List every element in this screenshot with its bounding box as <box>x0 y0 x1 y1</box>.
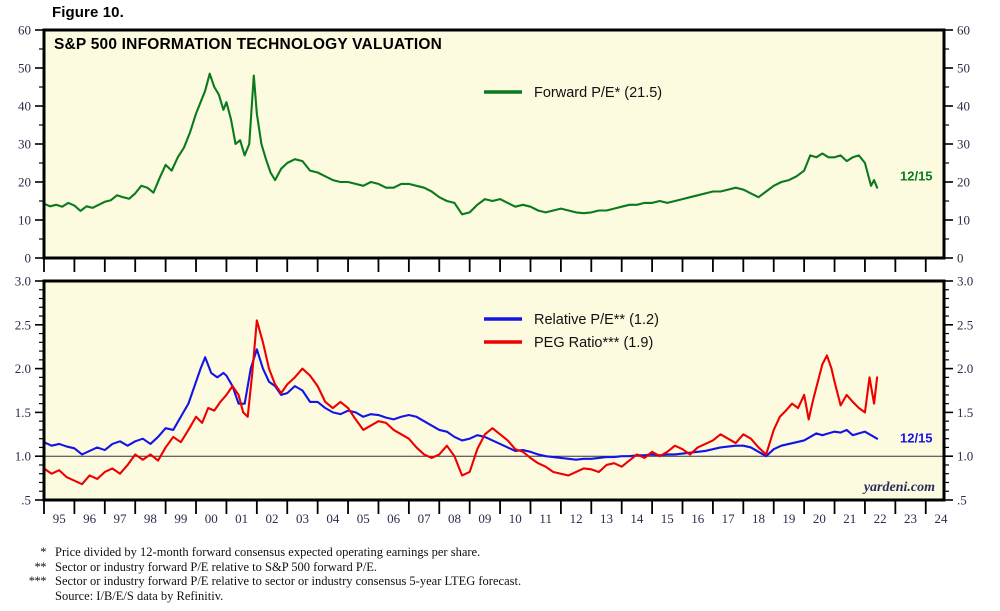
y-axis-label-left: 40 <box>18 99 31 114</box>
y-axis-label-right: 2.0 <box>957 361 973 376</box>
y-axis-label-right: 60 <box>957 23 970 38</box>
panel-background-2 <box>44 281 944 500</box>
x-axis-label: 22 <box>874 511 887 526</box>
y-axis-label-right: 30 <box>957 137 970 152</box>
footnote-text: Source: I/B/E/S data by Refinitiv. <box>55 589 1000 604</box>
y-axis-label-left: 50 <box>18 61 31 76</box>
x-axis-label: 14 <box>630 511 644 526</box>
legend-label-relative-pe: Relative P/E** (1.2) <box>534 312 659 328</box>
x-axis-label: 13 <box>600 511 613 526</box>
x-axis-label: 08 <box>448 511 461 526</box>
footnote-text: Sector or industry forward P/E relative … <box>55 560 1000 575</box>
x-axis-label: 96 <box>83 511 97 526</box>
x-axis-label: 04 <box>326 511 340 526</box>
x-axis-label: 98 <box>144 511 157 526</box>
x-axis-label: 09 <box>478 511 491 526</box>
y-axis-label-right: .5 <box>957 493 967 508</box>
x-axis-label: 03 <box>296 511 309 526</box>
y-axis-label-left: 10 <box>18 213 31 228</box>
footnotes-block: *Price divided by 12-month forward conse… <box>0 545 1000 603</box>
footnote-marker: *** <box>0 574 55 589</box>
x-axis-label: 17 <box>722 511 736 526</box>
y-axis-label-right: 1.0 <box>957 449 973 464</box>
x-axis-label: 19 <box>782 511 795 526</box>
x-axis-label: 12 <box>570 511 583 526</box>
y-axis-label-right: 2.5 <box>957 317 973 332</box>
y-axis-label-right: 40 <box>957 99 970 114</box>
y-axis-label-right: 50 <box>957 61 970 76</box>
y-axis-label-left: 2.5 <box>15 317 31 332</box>
x-axis-label: 18 <box>752 511 765 526</box>
y-axis-label-left: 0 <box>25 251 32 266</box>
footnote-row: *Price divided by 12-month forward conse… <box>0 545 1000 560</box>
y-axis-label-left: 2.0 <box>15 361 31 376</box>
watermark-yardeni: yardeni.com <box>862 480 935 495</box>
x-axis-label: 24 <box>934 511 948 526</box>
y-axis-label-left: 3.0 <box>15 274 31 289</box>
y-axis-label-right: 10 <box>957 213 970 228</box>
y-axis-label-right: 0 <box>957 251 964 266</box>
x-axis-label: 02 <box>266 511 279 526</box>
legend-label-forward-pe: Forward P/E* (21.5) <box>534 85 662 101</box>
y-axis-label-left: 20 <box>18 175 31 190</box>
legend-label-peg-ratio: PEG Ratio*** (1.9) <box>534 335 653 351</box>
x-axis-label: 97 <box>114 511 128 526</box>
footnote-text: Sector or industry forward P/E relative … <box>55 574 1000 589</box>
x-axis-label: 00 <box>205 511 218 526</box>
x-axis-label: 20 <box>813 511 826 526</box>
footnote-marker: * <box>0 545 55 560</box>
y-axis-label-left: 1.0 <box>15 449 31 464</box>
y-axis-label-right: 3.0 <box>957 274 973 289</box>
x-axis-label: 95 <box>53 511 66 526</box>
x-axis-label: 15 <box>661 511 674 526</box>
panel-title: S&P 500 INFORMATION TECHNOLOGY VALUATION <box>54 36 442 53</box>
x-axis-label: 06 <box>387 511 401 526</box>
footnote-row: **Sector or industry forward P/E relativ… <box>0 560 1000 575</box>
x-axis-label: 01 <box>235 511 248 526</box>
x-axis-label: 07 <box>418 511 432 526</box>
y-axis-label-right: 20 <box>957 175 970 190</box>
valuation-chart: 00101020203030404050506060.5.51.01.01.51… <box>0 0 1000 545</box>
footnote-row: Source: I/B/E/S data by Refinitiv. <box>0 589 1000 604</box>
y-axis-label-left: 1.5 <box>15 405 31 420</box>
panel-background-1 <box>44 30 944 258</box>
x-axis-label: 11 <box>539 511 552 526</box>
y-axis-label-left: 30 <box>18 137 31 152</box>
x-axis-label: 16 <box>691 511 705 526</box>
x-axis-label: 99 <box>174 511 187 526</box>
y-axis-label-right: 1.5 <box>957 405 973 420</box>
footnote-text: Price divided by 12-month forward consen… <box>55 545 1000 560</box>
end-label-relative-pe: 12/15 <box>900 431 933 446</box>
footnote-marker: ** <box>0 560 55 575</box>
x-axis-label: 05 <box>357 511 370 526</box>
y-axis-label-left: .5 <box>21 493 31 508</box>
x-axis-label: 10 <box>509 511 522 526</box>
x-axis-label: 23 <box>904 511 917 526</box>
end-label-forward-pe: 12/15 <box>900 168 933 183</box>
x-axis-label: 21 <box>843 511 856 526</box>
footnote-row: ***Sector or industry forward P/E relati… <box>0 574 1000 589</box>
y-axis-label-left: 60 <box>18 23 31 38</box>
